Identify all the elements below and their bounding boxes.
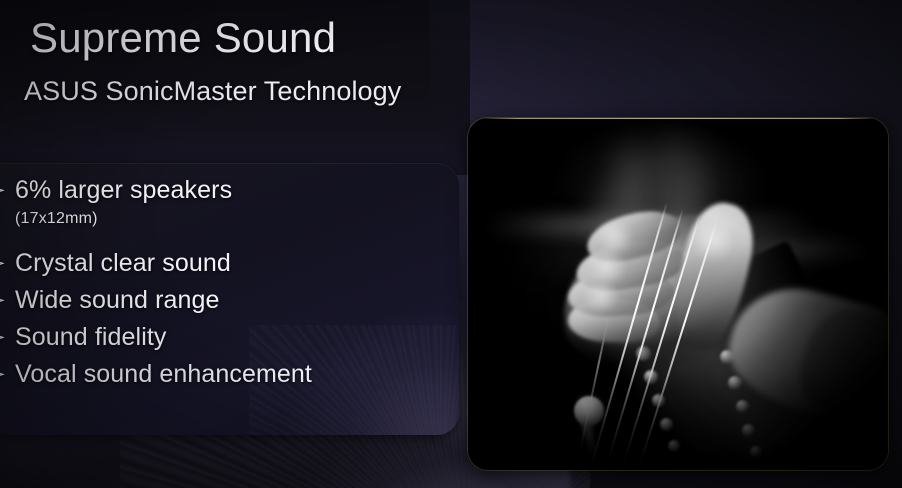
slide-vignette xyxy=(0,0,902,488)
slide-canvas: Supreme Sound ASUS SonicMaster Technolog… xyxy=(0,0,902,488)
